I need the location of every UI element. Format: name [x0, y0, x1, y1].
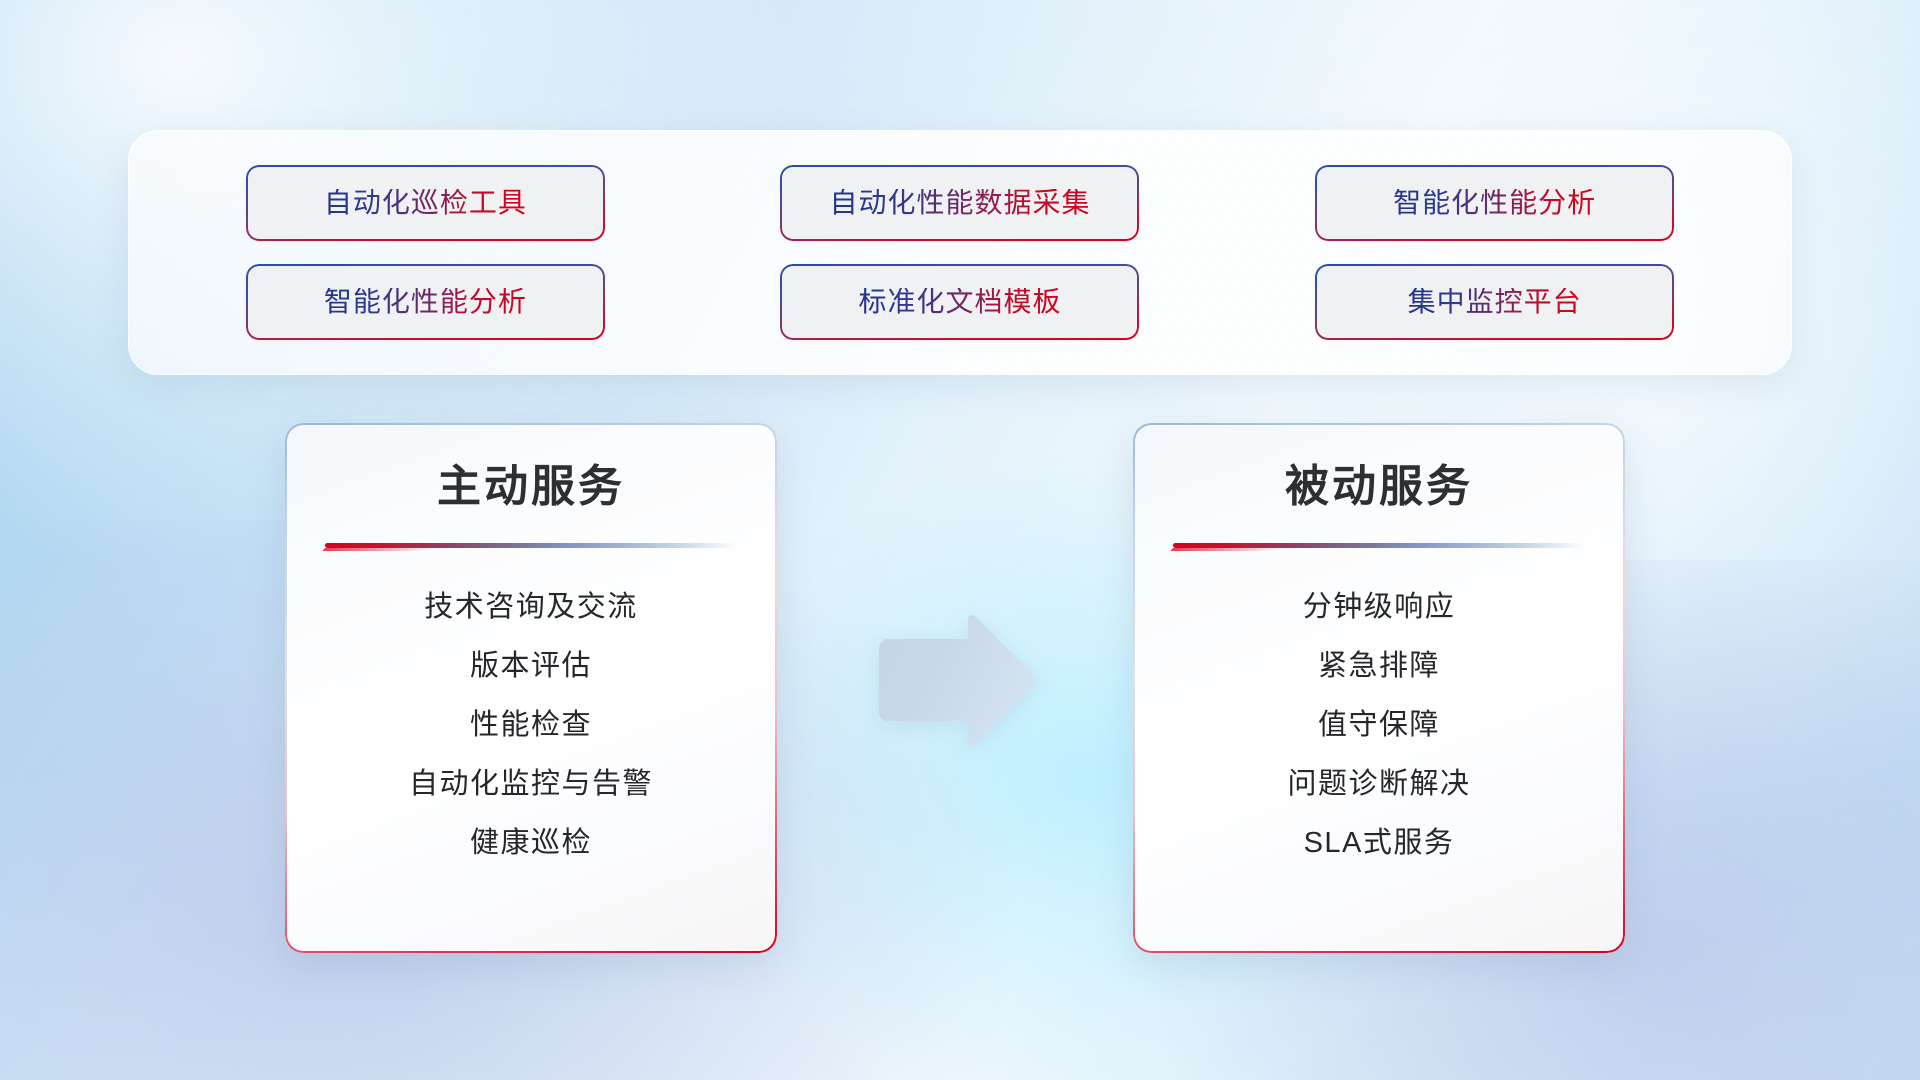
arrow-right-icon	[873, 613, 1037, 747]
capability-chip-label: 智能化性能分析	[1393, 189, 1596, 217]
capability-chip[interactable]: 智能化性能分析	[1317, 167, 1672, 239]
capability-chip[interactable]: 集中监控平台	[1317, 266, 1672, 338]
capability-chip[interactable]: 自动化巡检工具	[248, 167, 603, 239]
list-item: 自动化监控与告警	[409, 767, 653, 802]
card-item-list: 分钟级响应 紧急排障 值守保障 问题诊断解决 SLA式服务	[1167, 590, 1591, 860]
capability-chip-label: 自动化性能数据采集	[829, 189, 1090, 217]
list-item: 分钟级响应	[1303, 590, 1456, 625]
card-divider	[325, 543, 737, 548]
list-item: 版本评估	[470, 649, 592, 684]
slide-stage: 自动化巡检工具 自动化性能数据采集 智能化性能分析 智能化性能分析 标准化文档模…	[0, 0, 1920, 1080]
capability-chip-label: 智能化性能分析	[324, 288, 527, 316]
list-item: 值守保障	[1318, 708, 1440, 743]
capability-chip-label: 标准化文档模板	[858, 288, 1061, 316]
service-card-active: 主动服务 技术咨询及交流 版本评估 性能检查 自动化监控与告警 健康巡检	[285, 423, 777, 953]
card-title: 被动服务	[1167, 453, 1591, 511]
capability-chip[interactable]: 自动化性能数据采集	[782, 167, 1137, 239]
capability-panel: 自动化巡检工具 自动化性能数据采集 智能化性能分析 智能化性能分析 标准化文档模…	[128, 130, 1792, 375]
list-item: 健康巡检	[470, 826, 592, 861]
card-title: 主动服务	[319, 453, 743, 511]
card-item-list: 技术咨询及交流 版本评估 性能检查 自动化监控与告警 健康巡检	[319, 590, 743, 860]
capability-chip[interactable]: 智能化性能分析	[248, 266, 603, 338]
card-divider	[1173, 543, 1585, 548]
capability-chip-label: 集中监控平台	[1408, 288, 1582, 316]
service-card-passive: 被动服务 分钟级响应 紧急排障 值守保障 问题诊断解决 SLA式服务	[1133, 423, 1625, 953]
list-item: 问题诊断解决	[1287, 767, 1470, 802]
list-item: 技术咨询及交流	[424, 590, 638, 625]
list-item: 紧急排障	[1318, 649, 1440, 684]
list-item: SLA式服务	[1304, 826, 1455, 861]
list-item: 性能检查	[470, 708, 592, 743]
capability-chip-label: 自动化巡检工具	[324, 189, 527, 217]
capability-chip[interactable]: 标准化文档模板	[782, 266, 1137, 338]
